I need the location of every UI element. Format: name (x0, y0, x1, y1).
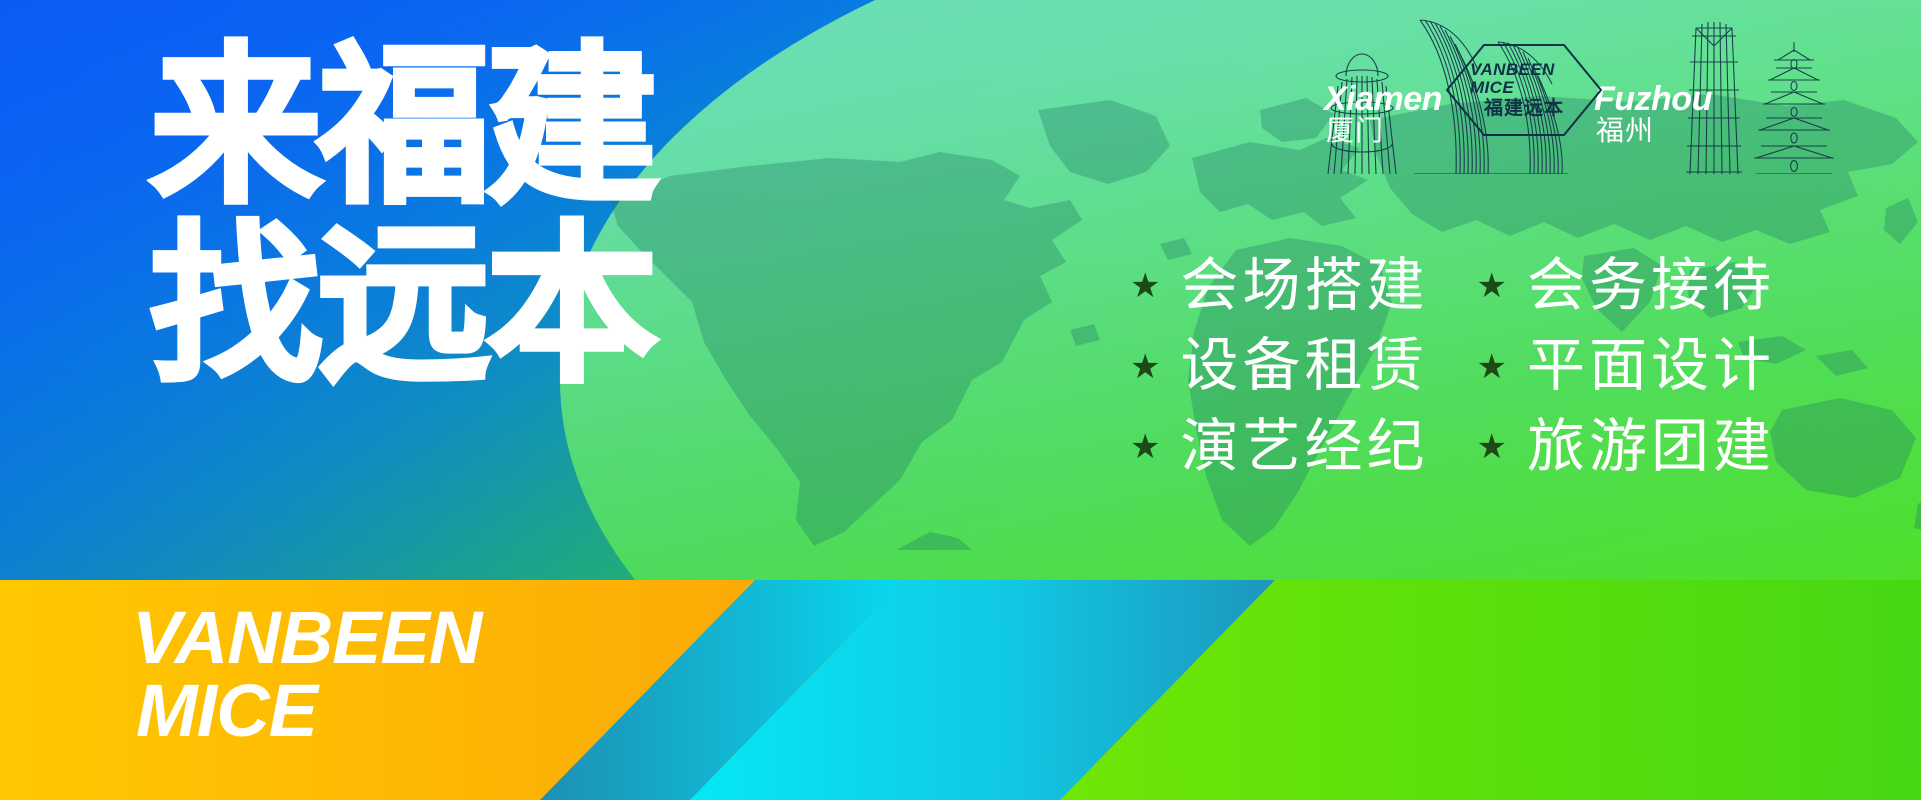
headline-block: 来福建 找远本 (150, 40, 850, 395)
service-label: 平面设计 (1527, 332, 1775, 400)
bottom-stripe-bar: VANBEEN MICE (0, 580, 1921, 800)
brandmark-line-2: MICE (136, 675, 481, 748)
badge-line-mice: MICE (1470, 79, 1514, 97)
service-label: 演艺经纪 (1180, 413, 1428, 481)
service-item-4: ★ 演艺经纪 (1130, 413, 1429, 481)
city-label-xiamen-en: Xiamen (1324, 82, 1442, 116)
star-icon: ★ (1477, 269, 1507, 303)
brandmark-line-1: VANBEEN (132, 602, 481, 675)
service-item-0: ★ 会场搭建 (1130, 252, 1429, 320)
city-label-xiamen-cn: 厦门 (1326, 117, 1384, 145)
city-label-fuzhou-en: Fuzhou (1594, 82, 1712, 116)
service-label: 会务接待 (1527, 252, 1775, 320)
badge-line-vanbeen: VANBEEN (1470, 61, 1555, 79)
service-label: 旅游团建 (1527, 413, 1775, 481)
service-item-2: ★ 设备租赁 (1130, 332, 1429, 400)
service-item-5: ★ 旅游团建 (1477, 413, 1776, 481)
hexagon-badge-text: VANBEEN MICE 福建远本 (1444, 42, 1604, 138)
star-icon: ★ (1477, 350, 1507, 384)
star-icon: ★ (1130, 269, 1160, 303)
star-icon: ★ (1130, 350, 1160, 384)
promotional-banner: 来福建 找远本 ★ 会场搭建 ★ 会务接待 ★ 设备租赁 ★ 平面设计 ★ 演艺… (0, 0, 1921, 800)
service-list: ★ 会场搭建 ★ 会务接待 ★ 设备租赁 ★ 平面设计 ★ 演艺经纪 ★ 旅游团… (1130, 252, 1775, 481)
brandmark-vanbeen-mice: VANBEEN MICE (132, 602, 481, 747)
service-label: 会场搭建 (1180, 252, 1428, 320)
service-label: 设备租赁 (1180, 332, 1428, 400)
headline-line-2: 找远本 (150, 219, 850, 394)
city-landmark-cluster: Xiamen 厦门 Fuzhou 福州 VANBEEN MICE 福建远本 (1298, 4, 1898, 174)
badge-line-chinese: 福建远本 (1484, 99, 1564, 119)
headline-line-1: 来福建 (150, 40, 850, 215)
city-label-fuzhou-cn: 福州 (1596, 117, 1654, 145)
service-item-3: ★ 平面设计 (1477, 332, 1776, 400)
star-icon: ★ (1477, 430, 1507, 464)
service-item-1: ★ 会务接待 (1477, 252, 1776, 320)
hexagon-logo-badge: VANBEEN MICE 福建远本 (1444, 42, 1604, 138)
star-icon: ★ (1130, 430, 1160, 464)
